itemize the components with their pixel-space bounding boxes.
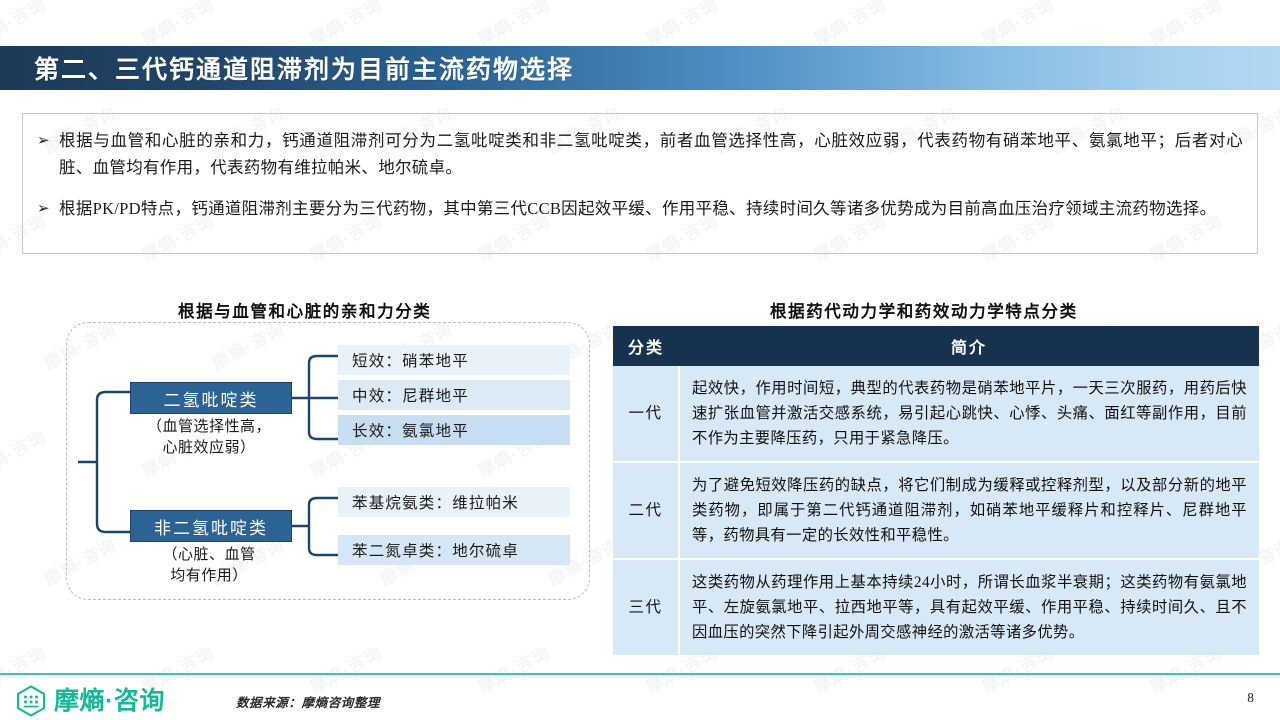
table-head: 分类 简介 [613,326,1259,366]
brand-logo-text: 摩熵·咨询 [54,689,165,714]
table-cell-category: 二代 [613,462,679,559]
slide-title-bar: 第二、三代钙通道阻滞剂为目前主流药物选择 [0,46,1280,90]
footer-divider [0,673,1280,675]
key-points-box: ➢ 根据与血管和心脏的亲和力，钙通道阻滞剂可分为二氢吡啶类和非二氢吡啶类，前者血… [22,113,1258,254]
diagram-leaf-benzothiazepine[interactable]: 苯二氮卓类：地尔硫卓 [338,535,570,565]
table-body: 一代 起效快，作用时间短，典型的代表药物是硝苯地平片，一天三次服药，用药后快速扩… [613,366,1259,655]
watermark-text: 摩熵·咨询 [137,0,218,50]
table-cell-description: 为了避免短效降压药的缺点，将它们制成为缓释或控释剂型，以及部分新的地平类药物，即… [679,462,1259,559]
watermark-text: 摩熵·咨询 [977,0,1058,50]
watermark-text: 摩熵·咨询 [473,639,554,698]
watermark-text: 摩熵·咨询 [809,0,890,50]
brand-logo: 摩熵·咨询 [14,684,165,718]
note-line: 均有作用） [124,566,294,587]
diagram-leaf-long-acting[interactable]: 长效：氨氯地平 [338,415,570,445]
diagram-leaf-medium-acting[interactable]: 中效：尼群地平 [338,380,570,410]
bullet-text: 根据PK/PD特点，钙通道阻滞剂主要分为三代药物，其中第三代CCB因起效平缓、作… [59,195,1243,222]
table-row[interactable]: 一代 起效快，作用时间短，典型的代表药物是硝苯地平片，一天三次服药，用药后快速扩… [613,366,1259,462]
watermark-text: 摩熵·咨询 [305,639,386,698]
bullet-item: ➢ 根据PK/PD特点，钙通道阻滞剂主要分为三代药物，其中第三代CCB因起效平缓… [37,195,1243,222]
left-panel-heading: 根据与血管和心脏的亲和力分类 [178,298,431,322]
diagram-leaf-phenylalkylamine[interactable]: 苯基烷氨类：维拉帕米 [338,487,570,517]
watermark-text: 摩熵·咨询 [0,0,50,50]
watermark-text: 摩熵·咨询 [473,0,554,50]
bullet-item: ➢ 根据与血管和心脏的亲和力，钙通道阻滞剂可分为二氢吡啶类和非二氢吡啶类，前者血… [37,127,1243,181]
page-title: 第二、三代钙通道阻滞剂为目前主流药物选择 [34,50,574,86]
table-row[interactable]: 三代 这类药物从药理作用上基本持续24小时，所谓长血浆半衰期；这类药物有氨氯地平… [613,559,1259,655]
bullet-arrow-icon: ➢ [37,195,59,221]
note-line: （血管选择性高， [124,417,294,438]
table-cell-category: 一代 [613,366,679,462]
watermark-text: 摩熵·咨询 [641,0,722,50]
slide-root: 摩熵·咨询摩熵·咨询摩熵·咨询摩熵·咨询摩熵·咨询摩熵·咨询摩熵·咨询摩熵·咨询… [0,0,1280,720]
table-header-row: 分类 简介 [613,326,1259,366]
table-col-description: 简介 [679,326,1259,366]
diagram-node-non-dihydropyridine-note: （心脏、血管 均有作用） [124,545,294,587]
generation-table-wrapper: 分类 简介 一代 起效快，作用时间短，典型的代表药物是硝苯地平片，一天三次服药，… [613,326,1259,655]
diagram-node-dihydropyridine-note: （血管选择性高， 心脏效应弱） [124,417,294,459]
right-panel-heading: 根据药代动力学和药效动力学特点分类 [770,298,1078,322]
note-line: （心脏、血管 [124,545,294,566]
table-row[interactable]: 二代 为了避免短效降压药的缺点，将它们制成为缓释或控释剂型，以及部分新的地平类药… [613,462,1259,559]
table-cell-category: 三代 [613,559,679,655]
watermark-text: 摩熵·咨询 [305,0,386,50]
generation-table: 分类 简介 一代 起效快，作用时间短，典型的代表药物是硝苯地平片，一天三次服药，… [613,326,1259,655]
table-cell-description: 这类药物从药理作用上基本持续24小时，所谓长血浆半衰期；这类药物有氨氯地平、左旋… [679,559,1259,655]
table-cell-description: 起效快，作用时间短，典型的代表药物是硝苯地平片，一天三次服药，用药后快速扩张血管… [679,366,1259,462]
table-col-category: 分类 [613,326,679,366]
diagram-node-dihydropyridine[interactable]: 二氢吡啶类 [130,382,292,414]
bullet-text: 根据与血管和心脏的亲和力，钙通道阻滞剂可分为二氢吡啶类和非二氢吡啶类，前者血管选… [59,127,1243,181]
hexagon-logo-icon [14,684,48,718]
watermark-text: 摩熵·咨询 [1145,0,1226,50]
page-number: 8 [1247,690,1254,706]
watermark-text: 摩熵·咨询 [0,423,50,482]
diagram-node-non-dihydropyridine[interactable]: 非二氢吡啶类 [130,510,292,542]
note-line: 心脏效应弱） [124,438,294,459]
source-note: 数据来源：摩熵咨询整理 [236,692,380,711]
bullet-arrow-icon: ➢ [37,127,59,153]
diagram-leaf-short-acting[interactable]: 短效：硝苯地平 [338,345,570,375]
